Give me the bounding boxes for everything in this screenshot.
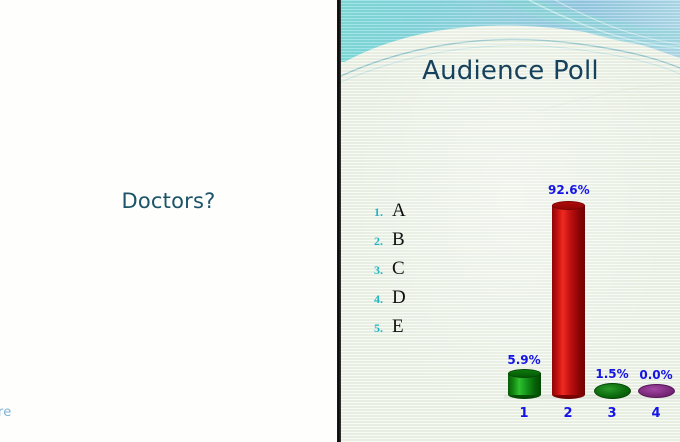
poll-slide-panel: Audience Poll 1. A 2. B 3. C 4. D 5. E — [341, 0, 680, 442]
slide-title: Audience Poll — [341, 56, 680, 86]
chart-bar-4: 0.0% 4 — [636, 150, 676, 425]
chart-bar-3: 1.5% 3 — [592, 150, 632, 425]
left-slide-panel: Doctors? ire — [0, 0, 337, 442]
list-item: 2. B — [363, 229, 406, 258]
bar-category-label: 3 — [592, 406, 632, 421]
answer-number: 2. — [363, 234, 383, 249]
answer-number: 1. — [363, 205, 383, 220]
screenshot-root: Doctors? ire — [0, 0, 680, 442]
cylinder-cap — [552, 201, 585, 210]
answer-letter: D — [392, 287, 406, 309]
bar-cylinder-red — [552, 201, 585, 399]
list-item: 5. E — [363, 316, 406, 345]
answer-number: 3. — [363, 263, 383, 278]
chart-bar-2: 92.6% 2 — [548, 150, 588, 425]
poll-results-chart: 5.9% 1 92.6% 2 1.5% 3 — [504, 150, 680, 425]
bar-disc-purple — [638, 384, 675, 398]
cylinder-body — [552, 205, 585, 395]
answer-number: 4. — [363, 292, 383, 307]
bar-value-label: 92.6% — [548, 183, 588, 197]
list-item: 4. D — [363, 287, 406, 316]
bar-category-label: 1 — [504, 406, 544, 421]
bar-value-label: 1.5% — [592, 367, 632, 381]
list-item: 1. A — [363, 200, 406, 229]
answer-letter: C — [392, 258, 405, 280]
list-item: 3. C — [363, 258, 406, 287]
question-text: Doctors? — [0, 189, 337, 213]
bar-disc-green — [594, 383, 631, 399]
chart-bar-1: 5.9% 1 — [504, 150, 544, 425]
cylinder-cap — [508, 369, 541, 378]
answer-options-list: 1. A 2. B 3. C 4. D 5. E — [363, 200, 406, 345]
corner-watermark-text: ire — [0, 405, 12, 420]
answer-number: 5. — [363, 321, 383, 336]
bar-value-label: 5.9% — [504, 353, 544, 367]
bar-cylinder-green — [508, 369, 541, 399]
answer-letter: A — [392, 200, 406, 222]
bar-category-label: 2 — [548, 406, 588, 421]
answer-letter: B — [392, 229, 405, 251]
panel-divider — [337, 0, 341, 442]
bar-value-label: 0.0% — [636, 368, 676, 382]
answer-letter: E — [392, 316, 404, 338]
bar-category-label: 4 — [636, 406, 676, 421]
